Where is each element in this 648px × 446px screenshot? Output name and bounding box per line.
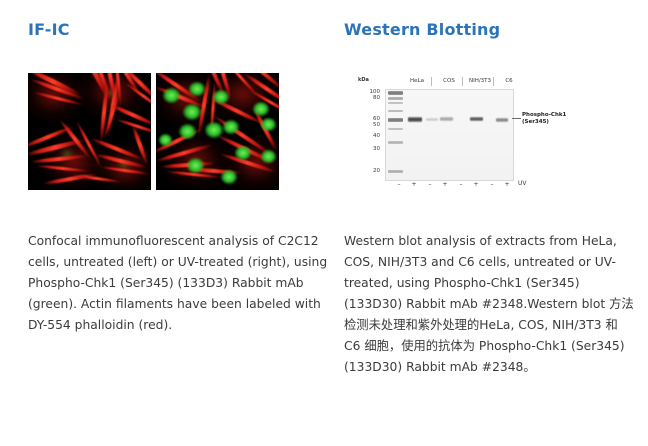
western-blot-figure: kDa HeLa COS NIH/3T3 C6 xyxy=(344,73,574,193)
if-ic-title: IF-IC xyxy=(28,20,70,39)
lane-divider xyxy=(493,77,494,86)
uv-row-label: UV xyxy=(518,180,527,187)
ladder-label-30: 30 xyxy=(364,146,380,152)
nucleus xyxy=(188,81,206,97)
nucleus xyxy=(182,103,202,121)
treatment-nih3t3-untreated: – xyxy=(456,181,466,188)
lane-divider xyxy=(431,77,432,86)
lane-label-c6: C6 xyxy=(494,78,524,84)
if-image-uv-treated xyxy=(156,73,279,190)
lane-label-hela: HeLa xyxy=(400,78,434,84)
band-cos-untreated xyxy=(426,118,438,121)
lane-divider xyxy=(462,77,463,86)
blot-membrane xyxy=(385,89,514,181)
lane-label-cos: COS xyxy=(432,78,466,84)
target-annotation: Phospho-Chk1 (Ser345) xyxy=(522,112,566,127)
nucleus xyxy=(178,123,197,140)
nucleus xyxy=(260,117,277,132)
nucleus xyxy=(222,119,240,135)
ladder-label-20: 20 xyxy=(364,168,380,174)
if-ic-figure xyxy=(28,73,279,190)
if-image-untreated xyxy=(28,73,151,190)
nucleus xyxy=(212,89,230,105)
nucleus xyxy=(260,149,277,164)
western-blotting-caption: Western blot analysis of extracts from H… xyxy=(344,231,634,378)
annotation-tick xyxy=(512,118,521,119)
treatment-cos-untreated: – xyxy=(425,181,435,188)
western-blotting-title: Western Blotting xyxy=(344,20,500,39)
treatment-c6-untreated: – xyxy=(487,181,497,188)
nucleus xyxy=(186,157,205,174)
band-hela-uv xyxy=(408,117,422,122)
western-blot-image: kDa HeLa COS NIH/3T3 C6 xyxy=(344,73,574,193)
molecular-weight-ladder xyxy=(388,91,404,177)
treatment-nih3t3-uv: + xyxy=(471,181,481,188)
product-figures-page: IF-IC xyxy=(0,0,648,446)
band-nih3t3-uv xyxy=(470,117,483,121)
nucleus xyxy=(162,87,181,104)
nucleus xyxy=(234,145,252,161)
ladder-label-80: 80 xyxy=(364,95,380,101)
if-ic-caption: Confocal immunofluorescent analysis of C… xyxy=(28,231,328,336)
nucleus xyxy=(158,133,173,147)
nucleus xyxy=(220,169,238,185)
nucleus xyxy=(252,101,270,117)
kda-axis-label: kDa xyxy=(358,77,369,83)
band-c6-uv xyxy=(496,118,508,122)
treatment-hela-untreated: – xyxy=(394,181,404,188)
treatment-hela-uv: + xyxy=(409,181,419,188)
ladder-label-40: 40 xyxy=(364,133,380,139)
treatment-c6-uv: + xyxy=(502,181,512,188)
nucleus xyxy=(204,121,224,139)
band-cos-uv xyxy=(440,117,453,121)
treatment-cos-uv: + xyxy=(440,181,450,188)
ladder-label-50: 50 xyxy=(364,122,380,128)
